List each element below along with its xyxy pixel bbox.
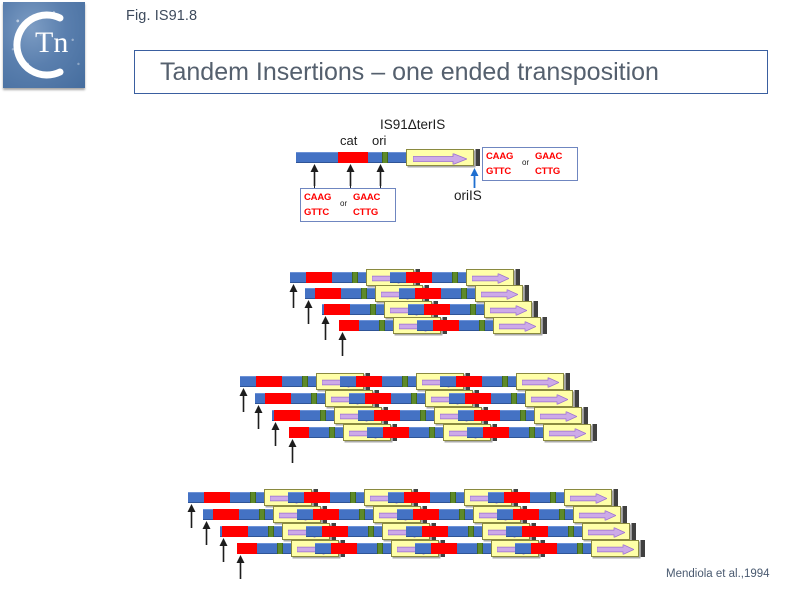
transposase-arrow-icon [499,321,536,330]
ori-marker [577,543,583,554]
cat-gene-block [413,509,439,520]
cat-gene-block [483,427,509,438]
ori-marker [477,543,483,554]
transposase-arrow-icon [540,411,577,420]
transposase-arrow-icon [588,527,625,536]
is91-element-box [525,390,573,407]
ori-marker [359,509,365,520]
ori-marker [361,288,367,299]
insertion-point-arrow-icon [338,332,347,356]
teris-bar [565,373,570,390]
cat-gene-block [306,272,332,283]
ori-marker [379,320,385,331]
is91-element-box [475,285,523,302]
ori-marker [302,376,308,387]
ori-marker [429,427,435,438]
insertion-point-arrow-icon [304,300,313,324]
teris-bar [592,424,597,441]
cat-gene-block [322,526,348,537]
ori-marker [370,304,376,315]
cat-gene-block [222,526,248,537]
insertion-point-arrow-icon [239,388,248,412]
teris-bar [622,506,627,523]
cat-gene-block [213,509,239,520]
slide-canvas: Tn Fig. IS91.8 Tandem Insertions – one e… [0,0,800,600]
cat-gene-block [374,410,400,421]
is91-element-box [484,301,532,318]
cat-gene-block [513,509,539,520]
insertion-point-arrow-icon [321,316,330,340]
tandem-insertion-groups [0,0,800,600]
cat-gene-block [356,376,382,387]
ori-marker [420,410,426,421]
transposase-arrow-icon [597,544,634,553]
insertion-point-arrow-icon [271,422,280,446]
teris-bar [515,269,520,286]
teris-bar [574,390,579,407]
is91-element-box [573,506,621,523]
is91-element-box [534,407,582,424]
cat-gene-block [315,288,341,299]
ori-marker [502,376,508,387]
ori-marker [470,304,476,315]
teris-bar [533,301,538,318]
transposase-arrow-icon [531,394,568,403]
ori-marker [568,526,574,537]
ori-marker [352,272,358,283]
insertion-point-arrow-icon [289,284,298,308]
transposase-arrow-icon [490,305,527,314]
insertion-point-arrow-icon [187,504,196,528]
is91-element-box [564,489,612,506]
ori-marker [377,543,383,554]
ori-marker [452,272,458,283]
ori-marker [329,427,335,438]
is91-element-box [516,373,564,390]
cat-gene-block [339,320,359,331]
ori-marker [402,376,408,387]
transposase-arrow-icon [522,377,559,386]
is91-element-box [582,523,630,540]
insertion-point-arrow-icon [202,521,211,545]
ori-marker [320,410,326,421]
ori-marker [250,492,256,503]
is91-element-box [543,424,591,441]
cat-gene-block [504,492,530,503]
ori-marker [277,543,283,554]
transposase-arrow-icon [549,428,586,437]
cat-gene-block [433,320,459,331]
cat-gene-block [365,393,391,404]
cat-gene-block [274,410,300,421]
teris-bar [631,523,636,540]
ori-marker [520,410,526,421]
teris-bar [542,317,547,334]
cat-gene-block [531,543,557,554]
cat-gene-block [456,376,482,387]
cat-gene-block [415,288,441,299]
ori-marker [450,492,456,503]
cat-gene-block [424,304,450,315]
ori-marker [468,526,474,537]
insertion-point-arrow-icon [219,538,228,562]
ori-marker [479,320,485,331]
transposase-arrow-icon [472,273,509,282]
ori-marker [550,492,556,503]
cat-gene-block [256,376,282,387]
is91-element-box [493,317,541,334]
ori-marker [259,509,265,520]
cat-gene-block [465,393,491,404]
cat-gene-block [313,509,339,520]
cat-gene-block [474,410,500,421]
is91-element-box [466,269,514,286]
cat-gene-block [324,304,350,315]
is91-element-box [591,540,639,557]
cat-gene-block [289,427,309,438]
cat-gene-block [522,526,548,537]
cat-gene-block [304,492,330,503]
teris-bar [640,540,645,557]
transposase-arrow-icon [579,510,616,519]
ori-marker [350,492,356,503]
ori-marker [529,427,535,438]
cat-gene-block [331,543,357,554]
ori-marker [268,526,274,537]
teris-bar [524,285,529,302]
insertion-point-arrow-icon [236,555,245,579]
cat-gene-block [204,492,230,503]
insertion-point-arrow-icon [288,439,297,463]
teris-bar [583,407,588,424]
transposase-arrow-icon [570,493,607,502]
ori-marker [368,526,374,537]
ori-marker [461,288,467,299]
cat-gene-block [431,543,457,554]
cat-gene-block [422,526,448,537]
ori-marker [511,393,517,404]
cat-gene-block [383,427,409,438]
cat-gene-block [265,393,291,404]
ori-marker [459,509,465,520]
insertion-point-arrow-icon [254,405,263,429]
cat-gene-block [404,492,430,503]
teris-bar [613,489,618,506]
transposase-arrow-icon [481,289,518,298]
cat-gene-block [406,272,432,283]
ori-marker [311,393,317,404]
cat-gene-block [237,543,257,554]
ori-marker [411,393,417,404]
ori-marker [559,509,565,520]
